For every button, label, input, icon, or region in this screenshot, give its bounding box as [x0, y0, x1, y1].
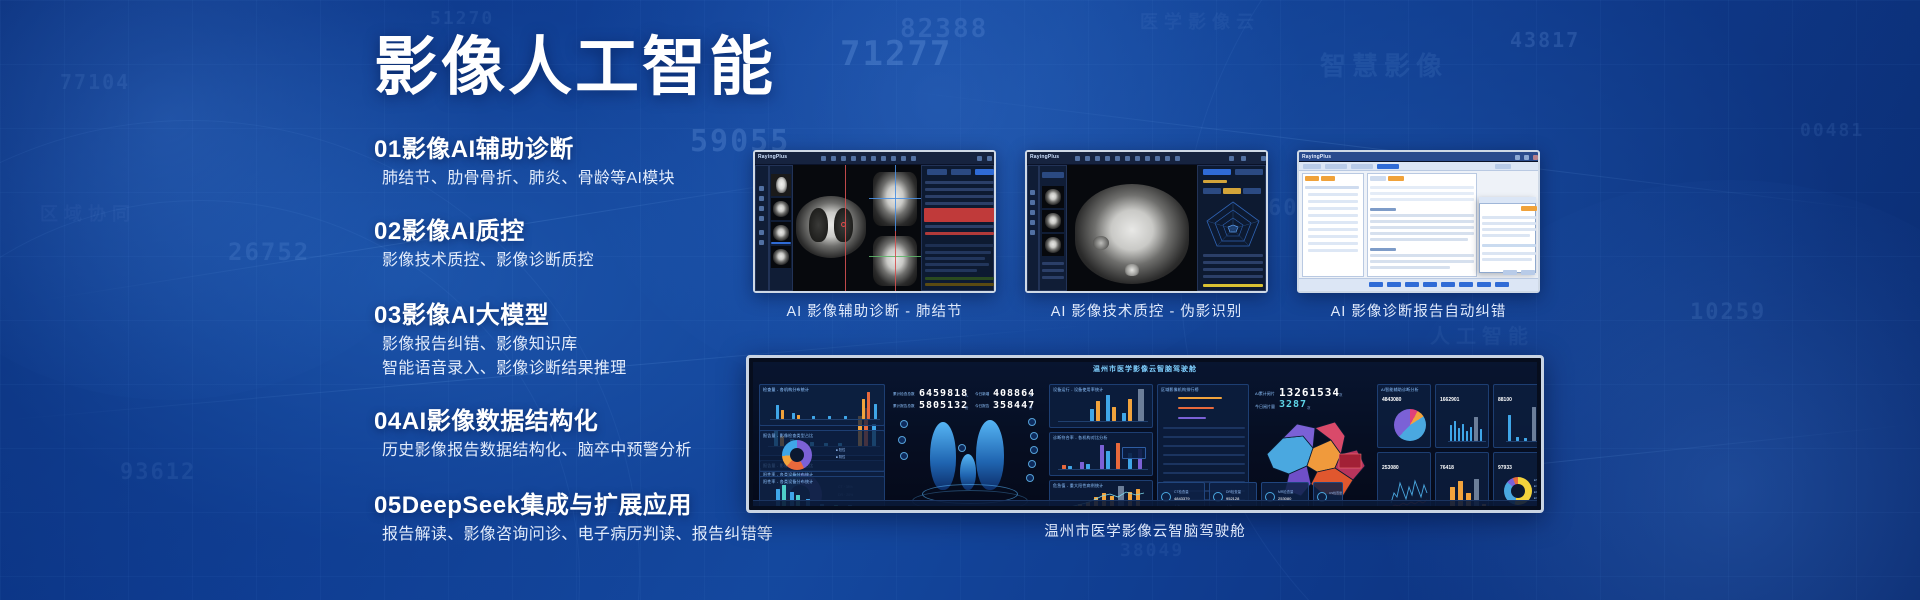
tree-filter-button[interactable]: [1305, 176, 1319, 181]
ai-imaging-banner: 82388 71277 59055 26752 60131 43817 1025…: [0, 0, 1920, 600]
background-number: 51270: [430, 8, 494, 29]
dashboard-card-mid-a[interactable]: 设备运行 - 设备使用率统计: [1049, 384, 1153, 428]
thumbnail-image: [1045, 189, 1061, 205]
legend-item: ■ 8%: [1534, 491, 1537, 494]
card-metric: 76418: [1440, 465, 1454, 471]
card-metric: 4843080: [1382, 397, 1401, 403]
thumbnail-image: [773, 201, 789, 217]
close-icon[interactable]: [1533, 155, 1538, 160]
node-icon[interactable]: [900, 420, 908, 428]
correction-line: [1482, 222, 1536, 225]
bar: [1138, 389, 1144, 421]
ribbon-tab[interactable]: [1303, 164, 1321, 169]
node-icon[interactable]: [1026, 474, 1034, 482]
qc-detail-row[interactable]: [1203, 268, 1263, 271]
tree-node[interactable]: [1308, 228, 1358, 231]
screenshot-frame: RayingPlus: [1297, 150, 1540, 293]
bar: [1112, 407, 1116, 421]
qc-tab-active[interactable]: [1203, 169, 1231, 175]
dashboard-card-r6[interactable]: 97933 ■ 54% ■ 32% ■ 8% ■ 6%: [1493, 452, 1537, 506]
background-cjk-mark: 区域协同: [40, 200, 136, 226]
series-list-item[interactable]: [1042, 276, 1064, 279]
patient-info-row: [1370, 192, 1474, 195]
toolbar-icon[interactable]: [831, 156, 836, 161]
app-titlebar: RayingPlus: [1299, 152, 1538, 162]
qc-section-label: [1203, 180, 1227, 183]
legend-item: ■ 阳性: [836, 447, 845, 452]
statusbar-button[interactable]: [1423, 282, 1437, 287]
bar: [781, 410, 784, 419]
bar: [1086, 464, 1090, 469]
qc-tab[interactable]: [1235, 169, 1263, 175]
report-body-line: [1370, 226, 1474, 229]
crosshair-vertical: [895, 231, 896, 291]
bar: [1090, 409, 1094, 421]
dashboard-card-left-a[interactable]: 检查量 - 各机构分布统计: [759, 384, 885, 426]
background-number: 71277: [840, 34, 952, 74]
toolbar-icon[interactable]: [851, 156, 856, 161]
dialog-ok-button[interactable]: [1503, 270, 1517, 275]
tree-node[interactable]: [1308, 249, 1358, 252]
dashboard-canvas: 温州市医学影像云智脑驾驶舱 检查量 - 各机构分布统计: [753, 362, 1537, 506]
toolbar-icon[interactable]: [1095, 156, 1100, 161]
figure-adult-left: [930, 422, 956, 490]
bar: [1106, 395, 1110, 421]
nodule-marker: [841, 222, 846, 227]
bar: [1474, 417, 1478, 441]
rail-icon[interactable]: [1030, 210, 1035, 215]
rank-row[interactable]: [1163, 445, 1245, 447]
bar: [1116, 443, 1120, 469]
kpi-value: 13261534: [1279, 386, 1340, 399]
rail-icon[interactable]: [759, 230, 764, 235]
tree-node[interactable]: [1308, 214, 1358, 217]
rank-row[interactable]: [1163, 427, 1245, 429]
series-list-item[interactable]: [1042, 262, 1064, 265]
crosshair-vertical: [845, 165, 846, 291]
statusbar-button[interactable]: [1369, 282, 1383, 287]
report-body-line: [1370, 260, 1474, 263]
dialog-apply-button[interactable]: [1521, 206, 1537, 211]
statusbar-button[interactable]: [1387, 282, 1401, 287]
background-number: 43817: [1510, 28, 1580, 52]
tree-node[interactable]: [1308, 207, 1358, 210]
series-list-item[interactable]: [1042, 269, 1064, 272]
bar: [797, 415, 800, 419]
correction-section: [1482, 244, 1536, 247]
background-number: 26752: [228, 238, 310, 266]
tree-node[interactable]: [1308, 221, 1358, 224]
toolbar-icon[interactable]: [901, 156, 906, 161]
report-text-line: [925, 251, 991, 254]
bar: [1454, 421, 1456, 441]
toolbar-icon[interactable]: [1085, 156, 1090, 161]
background-cjk-mark: 智慧影像: [1320, 46, 1448, 83]
bar: [844, 416, 847, 419]
report-text-line: [925, 257, 985, 260]
node-icon[interactable]: [1028, 418, 1036, 426]
spine-region: [1125, 264, 1139, 276]
chart-axis-x: [1506, 441, 1537, 442]
rail-icon[interactable]: [1030, 190, 1035, 195]
bar: [1508, 415, 1511, 441]
kpi-label: AI累计阅片: [1255, 391, 1275, 397]
background-cjk-mark: 人工智能: [1430, 320, 1534, 349]
report-section-title: [1370, 208, 1396, 211]
rank-row[interactable]: [1163, 472, 1245, 474]
maximize-icon[interactable]: [1524, 155, 1529, 160]
figure-adult-right: [976, 420, 1004, 490]
rank-bar: [1178, 417, 1206, 419]
toolbar-icon[interactable]: [821, 156, 826, 161]
feature-desc: 报告解读、影像咨询问诊、电子病历判读、报告纠错等: [374, 523, 844, 547]
toolbar-icon[interactable]: [871, 156, 876, 161]
bar: [1128, 399, 1132, 421]
search-icon[interactable]: [1229, 156, 1234, 161]
toolbar-icon[interactable]: [1175, 156, 1180, 161]
report-tab-active[interactable]: [1388, 176, 1404, 181]
card-title: AI智能辅助诊断分析: [1381, 387, 1419, 393]
toolbar-icon[interactable]: [1165, 156, 1170, 161]
tree-filter-button[interactable]: [1321, 176, 1335, 181]
report-tab[interactable]: [1370, 176, 1386, 181]
bar: [1106, 451, 1110, 469]
kpi-unit: 份: [1029, 405, 1032, 410]
screenshot-frame: RayingPlus: [1025, 150, 1268, 293]
correction-line: [1482, 228, 1536, 231]
tree-node[interactable]: [1305, 186, 1359, 189]
bar: [1524, 438, 1527, 441]
ai-kpi-block: AI累计阅片 13261534 次 今日阅片量 3287 次: [1255, 386, 1373, 412]
bar: [1122, 413, 1126, 421]
ribbon-tab[interactable]: [1351, 164, 1373, 169]
dashboard-card-mid-b[interactable]: 诊断符合率 - 各机构对比分析: [1049, 432, 1153, 476]
dashboard-frame: 温州市医学影像云智脑驾驶舱 检查量 - 各机构分布统计: [746, 355, 1544, 513]
rank-bar: [1178, 407, 1214, 409]
kpi-unit: 人: [965, 393, 968, 398]
findings-row[interactable]: [925, 244, 994, 247]
toolbar-icon[interactable]: [881, 156, 886, 161]
thumbnail-selected-bar: [771, 242, 791, 244]
node-icon[interactable]: [1030, 446, 1038, 454]
feature-desc-line: 报告解读、影像咨询问诊、电子病历判读、报告纠错等: [382, 523, 844, 547]
statusbar-button[interactable]: [1477, 282, 1491, 287]
dashboard-footer-bar: [753, 500, 1537, 506]
ribbon-tab-active[interactable]: [1377, 164, 1399, 169]
bar: [1062, 465, 1066, 469]
report-body-line: [1370, 220, 1474, 223]
kpi-unit: 份: [965, 405, 968, 410]
kpi-label: 今日新增: [975, 392, 989, 397]
hologram-family-visual: [898, 414, 1040, 506]
screenshot-lung-nodule[interactable]: RayingPlus: [753, 150, 996, 293]
page-title: 影像人工智能: [374, 34, 844, 101]
tool-rail[interactable]: [1027, 165, 1039, 291]
card-title: 区域影像机构排行榜: [1161, 387, 1199, 393]
node-icon[interactable]: [900, 452, 908, 460]
background-number: 10259: [1690, 300, 1766, 325]
lung-field-left: [809, 208, 828, 242]
toolbar-icon[interactable]: [1115, 156, 1120, 161]
qc-detail-row[interactable]: [1203, 261, 1263, 264]
feature-desc-line: 影像报告纠错、影像知识库: [382, 333, 844, 357]
bar: [1480, 429, 1482, 441]
findings-row[interactable]: [925, 181, 994, 184]
findings-row-highlighted[interactable]: [924, 208, 995, 222]
patient-info-row: [1370, 186, 1474, 189]
qc-grade-button[interactable]: [1203, 188, 1221, 194]
kpi-block: 累计检查总数 6459818 人 今日新增 408864 人 累计报告总数 58…: [893, 386, 1043, 412]
card-metric: 253080: [1382, 465, 1399, 471]
background-number: 00481: [1800, 120, 1864, 141]
toolbar-icon[interactable]: [1135, 156, 1140, 161]
bar: [812, 416, 815, 419]
card-metric: 1662901: [1440, 397, 1459, 403]
findings-row[interactable]: [925, 225, 994, 228]
findings-row[interactable]: [925, 195, 994, 198]
qc-grade-button[interactable]: [1243, 188, 1261, 194]
thumbnail-image: [773, 249, 789, 265]
report-text-line: [925, 269, 977, 272]
tree-node[interactable]: [1308, 235, 1358, 238]
stat-pill-label: DR检查量: [1226, 489, 1241, 494]
bar: [867, 392, 870, 419]
node-icon[interactable]: [898, 436, 906, 444]
card-metric: 97933: [1498, 465, 1512, 471]
legend-item: ■ 32%: [1534, 485, 1537, 488]
bar: [1458, 428, 1460, 441]
panel-primary-button[interactable]: [975, 169, 994, 175]
dashboard-card-r3[interactable]: 88100: [1493, 384, 1537, 448]
gear-icon[interactable]: [1241, 156, 1246, 161]
gear-icon[interactable]: [977, 156, 982, 161]
dashboard-card-r1[interactable]: AI智能辅助诊断分析 4843080: [1377, 384, 1431, 448]
bar: [1450, 425, 1452, 441]
background-number: 93612: [120, 460, 196, 485]
tree-node[interactable]: [1308, 242, 1358, 245]
close-icon[interactable]: [1261, 156, 1266, 161]
panel-action-button[interactable]: [927, 169, 947, 175]
dashboard-caption: 温州市医学影像云智脑驾驶舱: [855, 520, 1435, 541]
kpi-label: 累计检查总数: [893, 392, 915, 397]
app-logo: RayingPlus: [1302, 154, 1331, 160]
node-icon[interactable]: [1028, 460, 1036, 468]
thumbnail-image: [773, 225, 789, 241]
crosshair-vertical: [895, 165, 896, 231]
stat-pill-label: CT检查量: [1174, 489, 1189, 494]
panel-action-button[interactable]: [951, 169, 971, 175]
rail-icon[interactable]: [759, 216, 764, 221]
dashboard-card-r5[interactable]: 76418: [1435, 452, 1489, 506]
rail-icon[interactable]: [759, 186, 764, 191]
bar: [1462, 424, 1464, 441]
card-title: 设备运行 - 设备使用率统计: [1053, 387, 1103, 393]
bar: [792, 413, 795, 419]
donut-hole: [1511, 484, 1525, 498]
qc-detail-row[interactable]: [1203, 275, 1263, 278]
bar: [1100, 445, 1104, 469]
ribbon-tab[interactable]: [1495, 164, 1511, 169]
screenshot-caption: AI 影像辅助诊断 - 肺结节: [733, 300, 1016, 321]
rail-icon[interactable]: [759, 240, 764, 245]
toolbar-icon[interactable]: [891, 156, 896, 161]
chart-axis-x: [1058, 469, 1148, 470]
screenshot-caption: AI 影像诊断报告自动纠错: [1277, 300, 1560, 321]
statusbar-button[interactable]: [1495, 282, 1509, 287]
kpi-unit: 次: [1339, 392, 1342, 397]
stat-pill-label: US检查量: [1329, 491, 1342, 495]
toolbar-icon[interactable]: [1145, 156, 1150, 161]
toolbar-icon[interactable]: [861, 156, 866, 161]
patient-info-row: [1370, 198, 1474, 201]
toolbar-icon[interactable]: [841, 156, 846, 161]
kpi-unit: 人: [1029, 393, 1032, 398]
report-body-line: [1370, 254, 1474, 257]
screenshot-report-fix[interactable]: RayingPlus: [1297, 150, 1540, 293]
bar: [862, 399, 865, 419]
chart-axis-x: [1448, 441, 1486, 442]
qc-alert-row: [1203, 284, 1263, 287]
toolbar-icon[interactable]: [1105, 156, 1110, 161]
rank-row[interactable]: [1163, 454, 1245, 456]
kpi-value: 5805132: [919, 400, 968, 411]
series-tab[interactable]: [1042, 172, 1064, 178]
bar: [1068, 466, 1072, 469]
rank-row[interactable]: [1163, 436, 1245, 438]
tool-rail[interactable]: [755, 165, 769, 291]
background-number: 77104: [60, 70, 130, 94]
dashboard-card-r2[interactable]: 1662901: [1435, 384, 1489, 448]
toolbar-icon[interactable]: [1125, 156, 1130, 161]
rank-row[interactable]: [1163, 463, 1245, 465]
rail-icon[interactable]: [1030, 220, 1035, 225]
report-section-title: [1370, 248, 1396, 251]
bar: [1532, 407, 1536, 441]
card-metric: 88100: [1498, 397, 1512, 403]
chart-tooltip: [1122, 447, 1146, 459]
correction-line: [1482, 252, 1536, 255]
report-body-line: [1370, 266, 1450, 269]
report-text-line: [925, 283, 994, 286]
card-title: 阳性率 - 各类设备分布统计: [763, 479, 813, 485]
dashboard-title: 温州市医学影像云智脑驾驶舱: [753, 364, 1537, 374]
rail-icon[interactable]: [759, 206, 764, 211]
close-icon[interactable]: [987, 156, 992, 161]
statusbar-button[interactable]: [1459, 282, 1473, 287]
artifact-region: [1093, 236, 1109, 250]
card-title: 报告量 - 影像检查类型占比: [763, 433, 813, 439]
tree-node[interactable]: [1308, 193, 1358, 196]
background-cjk-mark: 医学影像云: [1140, 8, 1260, 34]
app-titlebar: RayingPlus: [1027, 152, 1266, 165]
kpi-label: 累计报告总数: [893, 404, 915, 409]
qc-detail-row[interactable]: [1203, 254, 1263, 257]
thumbnail-image: [1045, 237, 1061, 253]
correction-line: [1482, 234, 1530, 237]
bar: [1096, 401, 1100, 421]
bar: [1516, 437, 1519, 441]
background-number: 82388: [900, 14, 988, 44]
findings-row[interactable]: [925, 202, 994, 205]
kpi-label: 今日报告: [975, 404, 989, 409]
minimize-icon[interactable]: [1515, 155, 1520, 160]
bar: [1470, 427, 1472, 441]
rail-icon[interactable]: [1030, 230, 1035, 235]
kpi-value: 6459818: [919, 388, 968, 399]
dashboard-screenshot[interactable]: 温州市医学影像云智脑驾驶舱 检查量 - 各机构分布统计: [746, 355, 1544, 513]
report-text-line: [925, 277, 994, 280]
dialog-titlebar: [1479, 197, 1536, 204]
statusbar-button[interactable]: [1405, 282, 1419, 287]
correction-line: [1482, 258, 1532, 261]
tree-node[interactable]: [1308, 200, 1358, 203]
app-logo: RayingPlus: [1030, 154, 1059, 160]
card-title: 诊断符合率 - 各机构对比分析: [1053, 435, 1108, 441]
bar: [874, 404, 877, 419]
bar: [828, 416, 831, 419]
card-title: 检查量 - 各机构分布统计: [763, 387, 809, 393]
report-body-line: [1370, 232, 1474, 235]
kpi-value: 3287: [1279, 399, 1307, 410]
findings-row-alert[interactable]: [925, 232, 994, 235]
correction-line: [1482, 216, 1536, 219]
thumbnail-image: [776, 177, 787, 193]
rail-icon[interactable]: [759, 196, 764, 201]
dashboard-card-r4[interactable]: 253080: [1377, 452, 1431, 506]
app-titlebar: RayingPlus: [755, 152, 994, 165]
toolbar-icon[interactable]: [1075, 156, 1080, 161]
dashboard-card-left-b[interactable]: 报告量 - 影像检查类型占比 ■ 阳性 ■ 阴性: [759, 430, 885, 472]
report-body-line: [1370, 238, 1468, 241]
app-logo: RayingPlus: [758, 154, 787, 160]
report-body-line: [1370, 214, 1474, 217]
rank-bar: [1178, 397, 1222, 399]
bar: [1080, 462, 1084, 469]
screenshot-artifact-qc[interactable]: RayingPlus: [1025, 150, 1268, 293]
node-icon[interactable]: [1030, 432, 1038, 440]
toolbar-icon[interactable]: [911, 156, 916, 161]
ct-axial-image: [796, 196, 866, 258]
stat-pill-label: MR检查量: [1278, 489, 1293, 494]
statusbar-button[interactable]: [1441, 282, 1455, 287]
qc-grade-button-selected[interactable]: [1223, 188, 1241, 194]
screenshot-caption: AI 影像技术质控 - 伪影识别: [1005, 300, 1288, 321]
report-text-line: [925, 263, 989, 266]
screenshot-frame: RayingPlus: [753, 150, 996, 293]
donut-hole: [790, 448, 804, 462]
legend-item: ■ 阴性: [836, 454, 845, 459]
toolbar-icon[interactable]: [1155, 156, 1160, 161]
thumbnail-image: [1045, 213, 1061, 229]
legend-item: ■ 54%: [1534, 479, 1537, 482]
bar: [1466, 431, 1468, 441]
radar-chart: [1203, 198, 1263, 250]
chart-axis-x: [1058, 421, 1148, 422]
dialog-cancel-button[interactable]: [1521, 270, 1535, 275]
bar: [776, 405, 779, 419]
ribbon-tab[interactable]: [1325, 164, 1347, 169]
pie-chart: [1394, 409, 1426, 441]
node-icon[interactable]: [958, 444, 966, 452]
rail-icon[interactable]: [1030, 200, 1035, 205]
findings-row[interactable]: [925, 188, 994, 191]
background-number: 38049: [1120, 540, 1184, 561]
chart-axis-x: [770, 419, 880, 420]
